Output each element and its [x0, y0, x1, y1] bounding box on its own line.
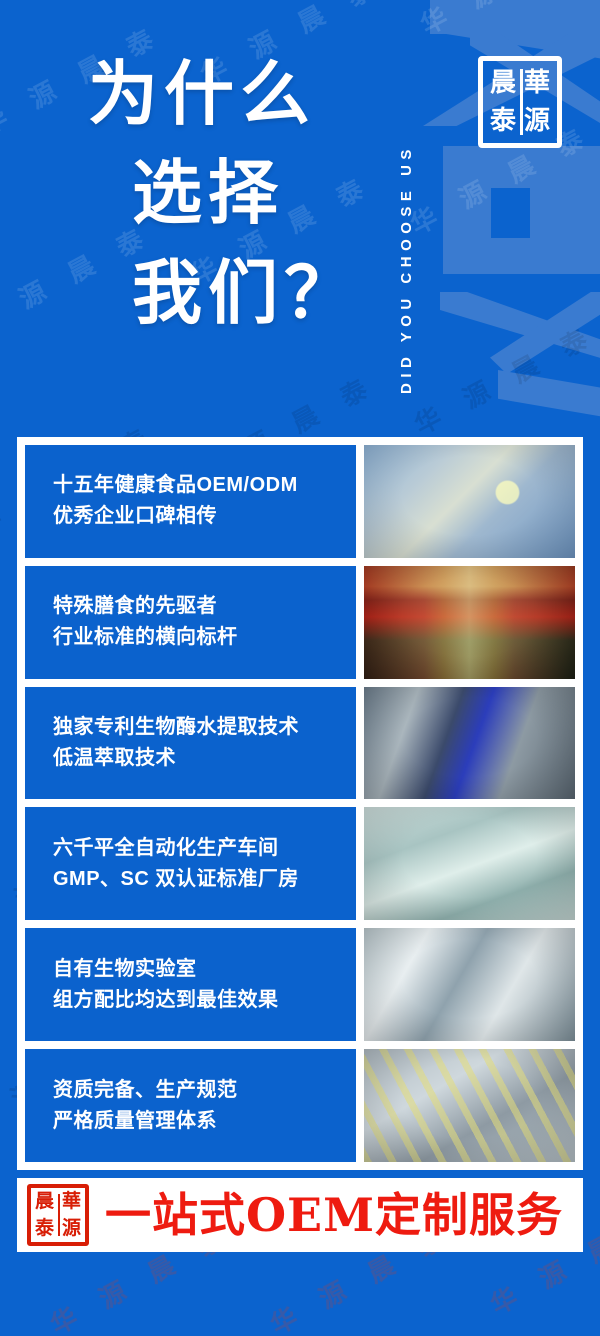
feature-line: 六千平全自动化生产车间	[53, 833, 356, 864]
feature-line: 特殊膳食的先驱者	[53, 591, 356, 622]
feature-text-box: 特殊膳食的先驱者行业标准的横向标杆	[25, 566, 356, 679]
filling-machine-photo	[364, 687, 575, 800]
feature-text-box: 十五年健康食品OEM/ODM优秀企业口碑相传	[25, 445, 356, 558]
feature-line: 独家专利生物酶水提取技术	[53, 712, 356, 743]
company-seal-logo: 華 源 晨 泰	[478, 56, 562, 148]
feature-row: 独家专利生物酶水提取技术低温萃取技术	[25, 687, 575, 800]
seal-char-4: 泰	[486, 102, 520, 140]
footer-seal-char-2: 源	[58, 1215, 85, 1242]
lab-staff-line-photo	[364, 928, 575, 1041]
feature-text-box: 六千平全自动化生产车间GMP、SC 双认证标准厂房	[25, 807, 356, 920]
photo-vignette	[364, 566, 575, 679]
footer-seal-divider	[58, 1194, 60, 1236]
page-title-line-2: 选择	[132, 143, 388, 242]
vertical-english-subtitle: DID YOU CHOOSE US	[398, 34, 424, 394]
footer-seal-char-1: 華	[58, 1188, 85, 1215]
feature-line: 十五年健康食品OEM/ODM	[53, 470, 356, 501]
page-title-line-1: 为什么	[88, 44, 388, 143]
photo-vignette	[364, 445, 575, 558]
footer-seal-char-4: 泰	[31, 1215, 58, 1242]
feature-text-box: 资质完备、生产规范严格质量管理体系	[25, 1049, 356, 1162]
footer-seal-logo: 華 源 晨 泰	[27, 1184, 89, 1246]
feature-text-box: 自有生物实验室组方配比均达到最佳效果	[25, 928, 356, 1041]
feature-line: 行业标准的横向标杆	[53, 622, 356, 653]
conference-audience-photo	[364, 566, 575, 679]
feature-line: 资质完备、生产规范	[53, 1075, 356, 1106]
photo-vignette	[364, 807, 575, 920]
photo-vignette	[364, 928, 575, 1041]
feature-line: 自有生物实验室	[53, 954, 356, 985]
feature-line: 低温萃取技术	[53, 743, 356, 774]
seal-char-2: 源	[520, 102, 554, 140]
seal-char-3: 晨	[486, 64, 520, 102]
feature-row: 特殊膳食的先驱者行业标准的横向标杆	[25, 566, 575, 679]
feature-cards-panel: 十五年健康食品OEM/ODM优秀企业口碑相传特殊膳食的先驱者行业标准的横向标杆独…	[17, 437, 583, 1170]
feature-text-box: 独家专利生物酶水提取技术低温萃取技术	[25, 687, 356, 800]
header: 为什么 选择 我们？ DID YOU CHOOSE US 華 源 晨 泰	[0, 0, 600, 430]
cleanroom-corridor-photo	[364, 807, 575, 920]
footer-seal-char-3: 晨	[31, 1188, 58, 1215]
seal-char-1: 華	[520, 64, 554, 102]
feature-line: GMP、SC 双认证标准厂房	[53, 864, 356, 895]
feature-row: 十五年健康食品OEM/ODM优秀企业口碑相传	[25, 445, 575, 558]
tablet-packing-photo	[364, 1049, 575, 1162]
feature-row: 资质完备、生产规范严格质量管理体系	[25, 1049, 575, 1162]
footer-banner: 華 源 晨 泰 一站式OEM定制服务	[17, 1178, 583, 1252]
feature-line: 组方配比均达到最佳效果	[53, 985, 356, 1016]
feature-row: 自有生物实验室组方配比均达到最佳效果	[25, 928, 575, 1041]
feature-row: 六千平全自动化生产车间GMP、SC 双认证标准厂房	[25, 807, 575, 920]
page-title-line-3: 我们？	[132, 243, 388, 342]
feature-line: 优秀企业口碑相传	[53, 501, 356, 532]
page-title: 为什么 选择 我们？	[88, 44, 388, 342]
feature-line: 严格质量管理体系	[53, 1106, 356, 1137]
photo-vignette	[364, 1049, 575, 1162]
photo-vignette	[364, 687, 575, 800]
seal-divider	[520, 69, 523, 135]
feature-rows: 十五年健康食品OEM/ODM优秀企业口碑相传特殊膳食的先驱者行业标准的横向标杆独…	[25, 445, 575, 1162]
footer-slogan: 一站式OEM定制服务	[95, 1192, 573, 1238]
lab-technician-photo	[364, 445, 575, 558]
